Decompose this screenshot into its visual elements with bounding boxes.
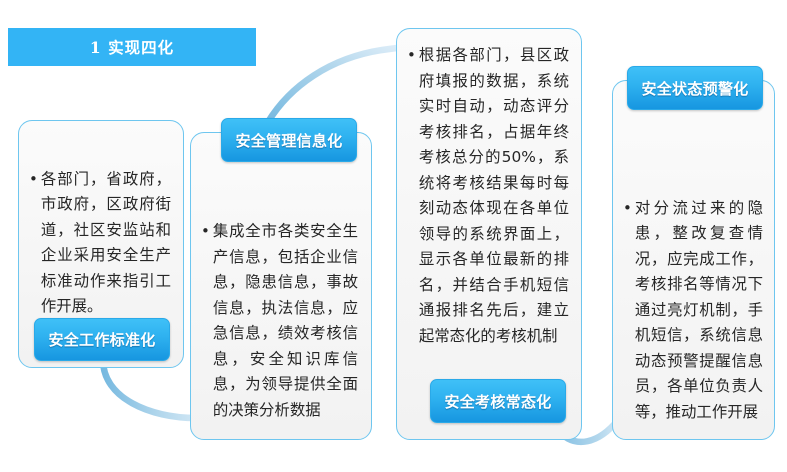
- card-3-bullet: • 根据各部门，县区政府填报的数据，系统实时自动，动态评分考核排名，占据年终考核…: [407, 43, 569, 349]
- badge-safety-work-standardization[interactable]: 安全工作标准化: [34, 318, 170, 361]
- card-2-text: 集成全市各类安全生产信息，包括企业信息，隐患信息，事故信息，执法信息，应急信息，…: [213, 219, 358, 423]
- card-3-text: 根据各部门，县区政府填报的数据，系统实时自动，动态评分考核排名，占据年终考核总分…: [419, 43, 569, 349]
- badge-1-label: 安全工作标准化: [48, 329, 155, 350]
- bullet-icon: •: [407, 43, 416, 69]
- page-title-banner: 1 实现四化: [8, 28, 256, 66]
- badge-3-label: 安全考核常态化: [444, 391, 551, 412]
- badge-2-label: 安全管理信息化: [235, 130, 342, 151]
- connector-2-to-3: [268, 47, 404, 122]
- page-title: 1 实现四化: [90, 36, 174, 58]
- card-safety-status-early-warning: • 对分流过来的隐患，整改复查情况，应完成工作，考核排名等情况下通过亮灯机制，手…: [612, 80, 775, 440]
- card-safety-management-informatization: • 集成全市各类安全生产信息，包括企业信息，隐患信息，事故信息，执法信息，应急信…: [190, 132, 372, 440]
- card-1-bullet: • 各部门，省政府，市政府，区政府街道，社区安监站和企业采用安全生产标准动作来指…: [29, 167, 171, 320]
- bullet-icon: •: [29, 167, 38, 193]
- badge-safety-assessment-normalization[interactable]: 安全考核常态化: [430, 379, 566, 423]
- card-1-text: 各部门，省政府，市政府，区政府街道，社区安监站和企业采用安全生产标准动作来指引工…: [41, 167, 171, 320]
- badge-4-label: 安全状态预警化: [641, 78, 748, 99]
- bullet-icon: •: [201, 219, 210, 245]
- card-2-bullet: • 集成全市各类安全生产信息，包括企业信息，隐患信息，事故信息，执法信息，应急信…: [201, 219, 358, 423]
- bullet-icon: •: [623, 196, 632, 222]
- badge-safety-status-early-warning[interactable]: 安全状态预警化: [627, 66, 763, 110]
- badge-safety-management-informatization[interactable]: 安全管理信息化: [221, 118, 357, 162]
- card-4-bullet: • 对分流过来的隐患，整改复查情况，应完成工作，考核排名等情况下通过亮灯机制，手…: [623, 196, 763, 426]
- card-4-text: 对分流过来的隐患，整改复查情况，应完成工作，考核排名等情况下通过亮灯机制，手机短…: [635, 196, 763, 426]
- diagram-canvas: 1 实现四化 • 各部门，省政府，市政府，区政府街道，社区安监站和企业采用安全生…: [0, 0, 787, 472]
